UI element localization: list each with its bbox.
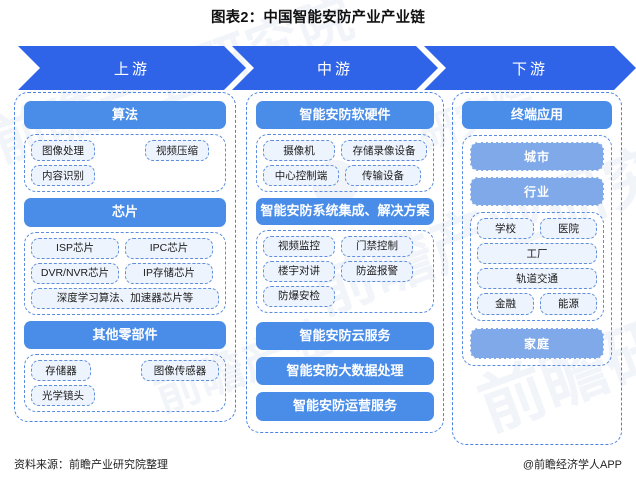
leaf-item[interactable]: 图像处理: [31, 140, 95, 161]
group-body-system-integration: 视频监控 门禁控制 楼宇对讲 防盗报警 防爆安检: [256, 230, 434, 313]
segment-family[interactable]: 家庭: [470, 328, 604, 359]
group-header-algorithm[interactable]: 算法: [24, 101, 226, 129]
industry-grid: 学校 医院 工厂 轨道交通 金融 能源: [477, 218, 597, 314]
leaf-item[interactable]: 金融: [477, 293, 534, 314]
service-bar-cloud[interactable]: 智能安防云服务: [256, 322, 434, 350]
group-body-other-parts: 存储器 图像传感器 光学镜头: [24, 354, 226, 412]
leaf-item[interactable]: 门禁控制: [341, 236, 413, 257]
group-body-industry-leaves: 学校 医院 工厂 轨道交通 金融 能源: [470, 212, 604, 320]
leaf-item[interactable]: 中心控制端: [263, 165, 339, 186]
leaf-item[interactable]: 图像传感器: [141, 360, 219, 381]
group-header-chip[interactable]: 芯片: [24, 198, 226, 226]
service-bar-bigdata[interactable]: 智能安防大数据处理: [256, 357, 434, 385]
column-upstream: 算法 图像处理 视频压缩 内容识别 芯片 ISP芯片 IPC芯片 DVR/NVR…: [14, 92, 236, 422]
page-title: 图表2：中国智能安防产业产业链: [0, 6, 636, 27]
segment-city[interactable]: 城市: [470, 142, 604, 171]
source-text: 资料来源：前瞻产业研究院整理: [14, 456, 168, 472]
service-bar-operations[interactable]: 智能安防运营服务: [256, 392, 434, 420]
leaf-item[interactable]: 视频压缩: [145, 140, 209, 161]
group-header-system-integration[interactable]: 智能安防系统集成、解决方案: [256, 198, 434, 224]
leaf-item[interactable]: 视频监控: [263, 236, 335, 257]
stage-arrow-downstream[interactable]: 下游: [424, 46, 636, 90]
app-attribution: @前瞻经济学人APP: [523, 456, 622, 472]
column-midstream: 智能安防软硬件 摄像机 存储录像设备 中心控制端 传输设备 智能安防系统集成、解…: [246, 92, 444, 433]
leaf-item[interactable]: 学校: [477, 218, 534, 239]
stage-arrow-upstream[interactable]: 上游: [18, 46, 246, 90]
leaf-item[interactable]: IP存储芯片: [125, 263, 213, 284]
group-body-security-hw-sw: 摄像机 存储录像设备 中心控制端 传输设备: [256, 134, 434, 192]
stage-arrow-midstream[interactable]: 中游: [232, 46, 438, 90]
group-header-other-parts[interactable]: 其他零部件: [24, 321, 226, 349]
footer: 资料来源：前瞻产业研究院整理 @前瞻经济学人APP: [0, 452, 636, 487]
column-downstream: 终端应用 城市 行业 学校 医院 工厂 轨道交通 金融 能源 家庭: [452, 92, 622, 445]
leaf-item[interactable]: 工厂: [477, 243, 597, 264]
leaf-item[interactable]: DVR/NVR芯片: [31, 263, 119, 284]
leaf-item[interactable]: 轨道交通: [477, 268, 597, 289]
stage-arrows: 上游 中游 下游: [0, 46, 636, 90]
group-header-security-hw-sw[interactable]: 智能安防软硬件: [256, 101, 434, 129]
leaf-item[interactable]: 内容识别: [31, 165, 95, 186]
group-body-chip: ISP芯片 IPC芯片 DVR/NVR芯片 IP存储芯片 深度学习算法、加速器芯…: [24, 232, 226, 315]
leaf-item[interactable]: 存储器: [31, 360, 91, 381]
leaf-item[interactable]: 光学镜头: [31, 385, 95, 406]
group-body-terminal-application: 城市 行业 学校 医院 工厂 轨道交通 金融 能源 家庭: [462, 135, 612, 365]
leaf-item[interactable]: 楼宇对讲: [263, 261, 335, 282]
leaf-item[interactable]: 医院: [540, 218, 597, 239]
group-header-terminal-application[interactable]: 终端应用: [462, 101, 612, 129]
leaf-item[interactable]: 防盗报警: [341, 261, 413, 282]
leaf-item[interactable]: 摄像机: [263, 140, 335, 161]
leaf-item[interactable]: 防爆安检: [263, 286, 335, 307]
segment-industry[interactable]: 行业: [470, 177, 604, 206]
leaf-item[interactable]: 存储录像设备: [341, 140, 427, 161]
group-body-algorithm: 图像处理 视频压缩 内容识别: [24, 134, 226, 192]
leaf-item[interactable]: 能源: [540, 293, 597, 314]
leaf-item[interactable]: ISP芯片: [31, 238, 119, 259]
leaf-item[interactable]: 传输设备: [345, 165, 421, 186]
leaf-item[interactable]: IPC芯片: [125, 238, 213, 259]
leaf-item[interactable]: 深度学习算法、加速器芯片等: [31, 288, 219, 309]
